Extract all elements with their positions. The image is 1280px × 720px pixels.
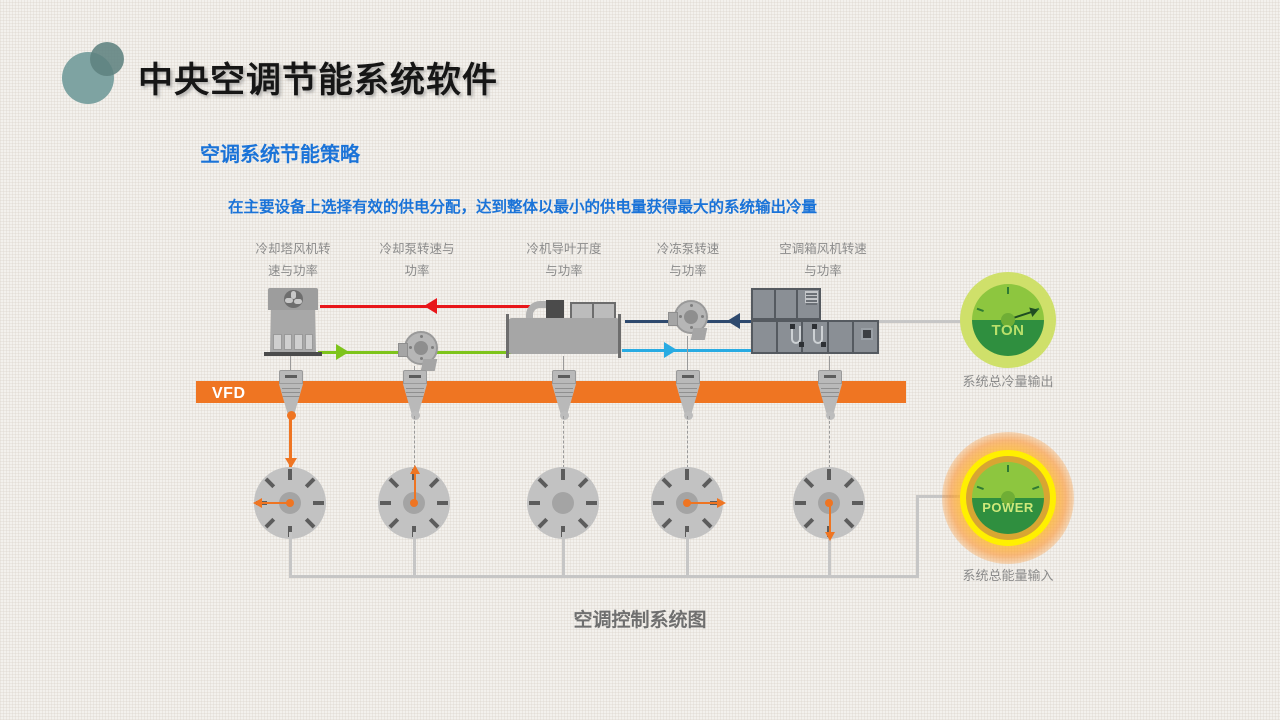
- condenser-return-arrow: [424, 298, 437, 314]
- equipment-label-chiller: 冷机导叶开度 与功率: [504, 238, 624, 282]
- bus-riser-4: [686, 532, 689, 577]
- ahu-coil-dot-4: [821, 342, 826, 347]
- bus-riser-2: [413, 532, 416, 577]
- ahu-controller: [861, 328, 873, 340]
- label-line-1: 冷冻泵转速: [628, 238, 748, 260]
- section-title: 空调系统节能策略: [200, 138, 360, 167]
- motor-chiller[interactable]: [527, 467, 599, 539]
- power-gauge-label: POWER: [972, 500, 1044, 515]
- label-line-2: 速与功率: [233, 260, 353, 282]
- ton-output-line: [877, 320, 967, 323]
- air-handling-unit: [751, 288, 879, 354]
- chiller-equipment: [500, 300, 628, 360]
- chilled-return-arrow: [727, 313, 740, 329]
- bus-riser-3: [562, 532, 565, 577]
- link-drive-motor-3: [563, 416, 564, 468]
- vfd-drive-chilled-pump[interactable]: [676, 370, 700, 416]
- equipment-label-ahu: 空调箱风机转速 与功率: [756, 238, 890, 282]
- motor-cooling-tower-fan[interactable]: [254, 467, 326, 539]
- power-gauge-caption: 系统总能量输入: [928, 565, 1088, 584]
- chilled-supply-arrow: [664, 342, 677, 358]
- diagram-caption: 空调控制系统图: [0, 605, 1280, 632]
- power-gauge-face: POWER: [972, 462, 1044, 534]
- motor-needle: [688, 502, 718, 504]
- label-line-2: 功率: [357, 260, 477, 282]
- ton-gauge-face: TON: [972, 284, 1044, 356]
- chiller-shell: [508, 318, 620, 354]
- ton-gauge-caption: 系统总冷量输出: [928, 371, 1088, 390]
- equipment-label-cooling-tower: 冷却塔风机转 速与功率: [233, 238, 353, 282]
- chiller-end-cap-right: [618, 314, 621, 358]
- motor-ahu-fan[interactable]: [793, 467, 865, 539]
- link-drive-motor-2: [414, 416, 415, 468]
- motor-condenser-pump[interactable]: [378, 467, 450, 539]
- ton-gauge-label: TON: [972, 322, 1044, 339]
- link-drive-motor-5: [829, 416, 830, 468]
- logo-circle-small: [90, 42, 124, 76]
- vfd-drive-cooling-tower[interactable]: [279, 370, 303, 416]
- brand-logo: [62, 42, 124, 104]
- chilled-supply-pipe: [622, 349, 755, 352]
- label-line-1: 冷机导叶开度: [504, 238, 624, 260]
- label-line-2: 与功率: [756, 260, 890, 282]
- ton-gauge[interactable]: TON: [960, 272, 1056, 368]
- ahu-louver-icon: [805, 291, 818, 303]
- tower-fan-icon: [284, 290, 303, 308]
- vfd-drive-ahu[interactable]: [818, 370, 842, 416]
- vfd-drive-chiller[interactable]: [552, 370, 576, 416]
- tower-base: [264, 352, 322, 356]
- cooling-tower-equipment: [262, 288, 324, 360]
- ahu-coil-dot-1: [790, 324, 795, 329]
- motor-needle: [829, 503, 831, 533]
- bus-riser-1: [289, 532, 292, 577]
- bus-riser-to-power: [916, 495, 919, 578]
- label-line-2: 与功率: [504, 260, 624, 282]
- motor-chilled-pump[interactable]: [651, 467, 723, 539]
- power-gauge[interactable]: POWER: [960, 450, 1056, 546]
- condenser-water-pump: [398, 331, 438, 371]
- ahu-coil-dot-3: [812, 324, 817, 329]
- page-title: 中央空调节能系统软件: [138, 52, 498, 103]
- label-line-1: 冷却泵转速与: [357, 238, 477, 260]
- chiller-end-cap-left: [506, 314, 509, 358]
- equipment-label-condenser-pump: 冷却泵转速与 功率: [357, 238, 477, 282]
- vfd-label: VFD: [212, 385, 246, 403]
- section-description: 在主要设备上选择有效的供电分配，达到整体以最小的供电量获得最大的系统输出冷量: [228, 195, 817, 217]
- label-line-1: 空调箱风机转速: [756, 238, 890, 260]
- ahu-coil-dot-2: [799, 342, 804, 347]
- label-line-1: 冷却塔风机转: [233, 238, 353, 260]
- vfd-drive-condenser-pump[interactable]: [403, 370, 427, 416]
- tower-louvers: [273, 334, 313, 350]
- chilled-water-pump: [668, 300, 708, 340]
- condenser-supply-arrow: [336, 344, 349, 360]
- equipment-label-chilled-pump: 冷冻泵转速 与功率: [628, 238, 748, 282]
- link-drive-motor-4: [687, 416, 688, 468]
- label-line-2: 与功率: [628, 260, 748, 282]
- bus-horizontal: [289, 575, 919, 578]
